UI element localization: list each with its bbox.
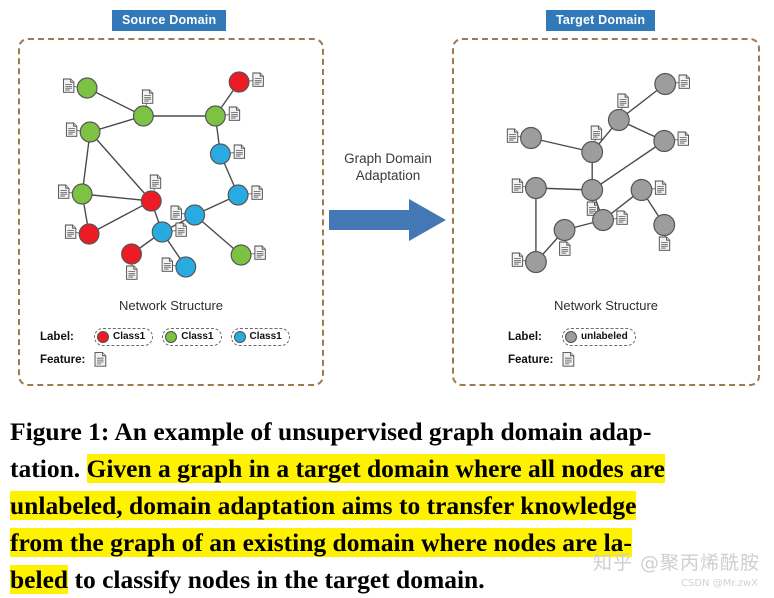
document-icon <box>66 123 76 136</box>
graph-node <box>210 144 230 164</box>
target-domain-panel: Network Structure Label: unlabeled Featu… <box>452 38 760 386</box>
legend-class-label: Class1 <box>250 331 282 342</box>
graph-node <box>185 205 205 225</box>
graph-node <box>206 106 226 126</box>
graph-node <box>122 244 142 264</box>
caption-line-2: tation. Given a graph in a target domain… <box>10 450 766 487</box>
zhihu-watermark: 知乎 @聚丙烯酰胺 <box>593 548 760 575</box>
document-icon <box>618 94 628 107</box>
graph-node <box>77 78 97 98</box>
figure-region: Source Domain Target Domain Network Stru… <box>0 0 774 400</box>
document-icon <box>512 179 522 192</box>
document-icon <box>253 73 263 86</box>
graph-node <box>79 224 99 244</box>
legend-class-label: Class1 <box>181 331 213 342</box>
legend-chip: unlabeled <box>562 328 636 346</box>
graph-node <box>593 210 614 231</box>
legend-class-label: unlabeled <box>581 331 628 342</box>
document-icon <box>562 352 575 367</box>
caption-line-4-highlight: from the graph of an existing domain whe… <box>10 528 632 557</box>
document-icon <box>659 237 669 250</box>
graph-node <box>141 191 161 211</box>
graph-node <box>133 106 153 126</box>
graph-node <box>72 184 92 204</box>
document-icon <box>65 225 75 238</box>
legend-class-label: Class1 <box>113 331 145 342</box>
source-graph-diagram <box>20 40 322 302</box>
document-icon <box>255 246 265 259</box>
legend-class-dot <box>97 331 109 343</box>
source-legend: Label: Class1Class1Class1 Feature: <box>40 326 299 372</box>
caption-line-1-text: Figure 1: An example of unsupervised gra… <box>10 417 651 446</box>
document-icon <box>252 186 262 199</box>
document-icon <box>229 107 239 120</box>
source-legend-chips: Class1Class1Class1 <box>94 328 299 346</box>
graph-node <box>655 74 676 95</box>
legend-chip: Class1 <box>162 328 221 346</box>
document-icon <box>176 223 186 236</box>
source-legend-label-row: Label: Class1Class1Class1 <box>40 326 299 347</box>
target-legend-label-key: Label: <box>508 331 562 343</box>
graph-node <box>582 180 603 201</box>
document-icon <box>678 132 688 145</box>
graph-edge <box>90 132 151 201</box>
graph-node <box>582 142 603 163</box>
caption-line-1: Figure 1: An example of unsupervised gra… <box>10 413 766 450</box>
graph-node <box>554 220 575 241</box>
graph-node <box>228 185 248 205</box>
right-arrow-icon <box>324 197 452 248</box>
legend-chip: Class1 <box>94 328 153 346</box>
source-legend-label-key: Label: <box>40 331 94 343</box>
caption-line-3-highlight: unlabeled, domain adaptation aims to tra… <box>10 491 636 520</box>
document-icon <box>58 185 68 198</box>
source-network-structure-label: Network Structure <box>20 298 322 313</box>
graph-node <box>80 122 100 142</box>
source-domain-title: Source Domain <box>112 10 226 31</box>
caption-line-5-plain: to classify nodes in the target domain. <box>68 565 485 594</box>
graph-node <box>654 131 675 152</box>
document-icon <box>162 258 172 271</box>
target-legend-chips: unlabeled <box>562 328 645 346</box>
document-icon <box>560 242 570 255</box>
graph-domain-adaptation-block: Graph Domain Adaptation <box>324 150 452 260</box>
target-legend: Label: unlabeled Feature: <box>508 326 645 372</box>
document-icon <box>94 352 107 367</box>
document-icon <box>63 79 73 92</box>
graph-node <box>176 257 196 277</box>
graph-node <box>608 110 629 131</box>
source-legend-feature-row: Feature: <box>40 349 299 370</box>
target-network-structure-label: Network Structure <box>454 298 758 313</box>
csdn-watermark: CSDN @Mr.zwX <box>681 578 758 589</box>
source-domain-panel: Network Structure Label: Class1Class1Cla… <box>18 38 324 386</box>
document-icon <box>655 181 665 194</box>
document-icon <box>150 175 160 188</box>
document-icon <box>512 253 522 266</box>
document-icon <box>234 145 244 158</box>
graph-node <box>631 180 652 201</box>
target-legend-label-row: Label: unlabeled <box>508 326 645 347</box>
target-legend-feature-key: Feature: <box>508 354 562 366</box>
caption-line-2-highlight: Given a graph in a target domain where a… <box>87 454 665 483</box>
graph-node <box>526 178 547 199</box>
graph-node <box>654 215 675 236</box>
graph-node <box>152 222 172 242</box>
target-legend-feature-row: Feature: <box>508 349 645 370</box>
graph-node <box>231 245 251 265</box>
graph-node <box>526 252 547 273</box>
document-icon <box>617 211 627 224</box>
caption-line-5-highlight: beled <box>10 565 68 594</box>
caption-line-2-plain: tation. <box>10 454 87 483</box>
document-icon <box>507 129 517 142</box>
legend-class-dot <box>565 331 577 343</box>
caption-line-3: unlabeled, domain adaptation aims to tra… <box>10 487 766 524</box>
source-legend-feature-key: Feature: <box>40 354 94 366</box>
legend-class-dot <box>165 331 177 343</box>
document-icon <box>171 206 181 219</box>
document-icon <box>591 126 601 139</box>
document-icon <box>127 266 137 279</box>
graph-node <box>521 128 542 149</box>
document-icon <box>679 75 689 88</box>
legend-class-dot <box>234 331 246 343</box>
graph-edge <box>592 141 664 190</box>
document-icon <box>142 90 152 103</box>
graph-domain-adaptation-label: Graph Domain Adaptation <box>324 150 452 184</box>
legend-chip: Class1 <box>231 328 290 346</box>
target-graph-diagram <box>454 40 758 302</box>
target-domain-title: Target Domain <box>546 10 655 31</box>
graph-node <box>229 72 249 92</box>
graph-edge <box>89 201 151 234</box>
